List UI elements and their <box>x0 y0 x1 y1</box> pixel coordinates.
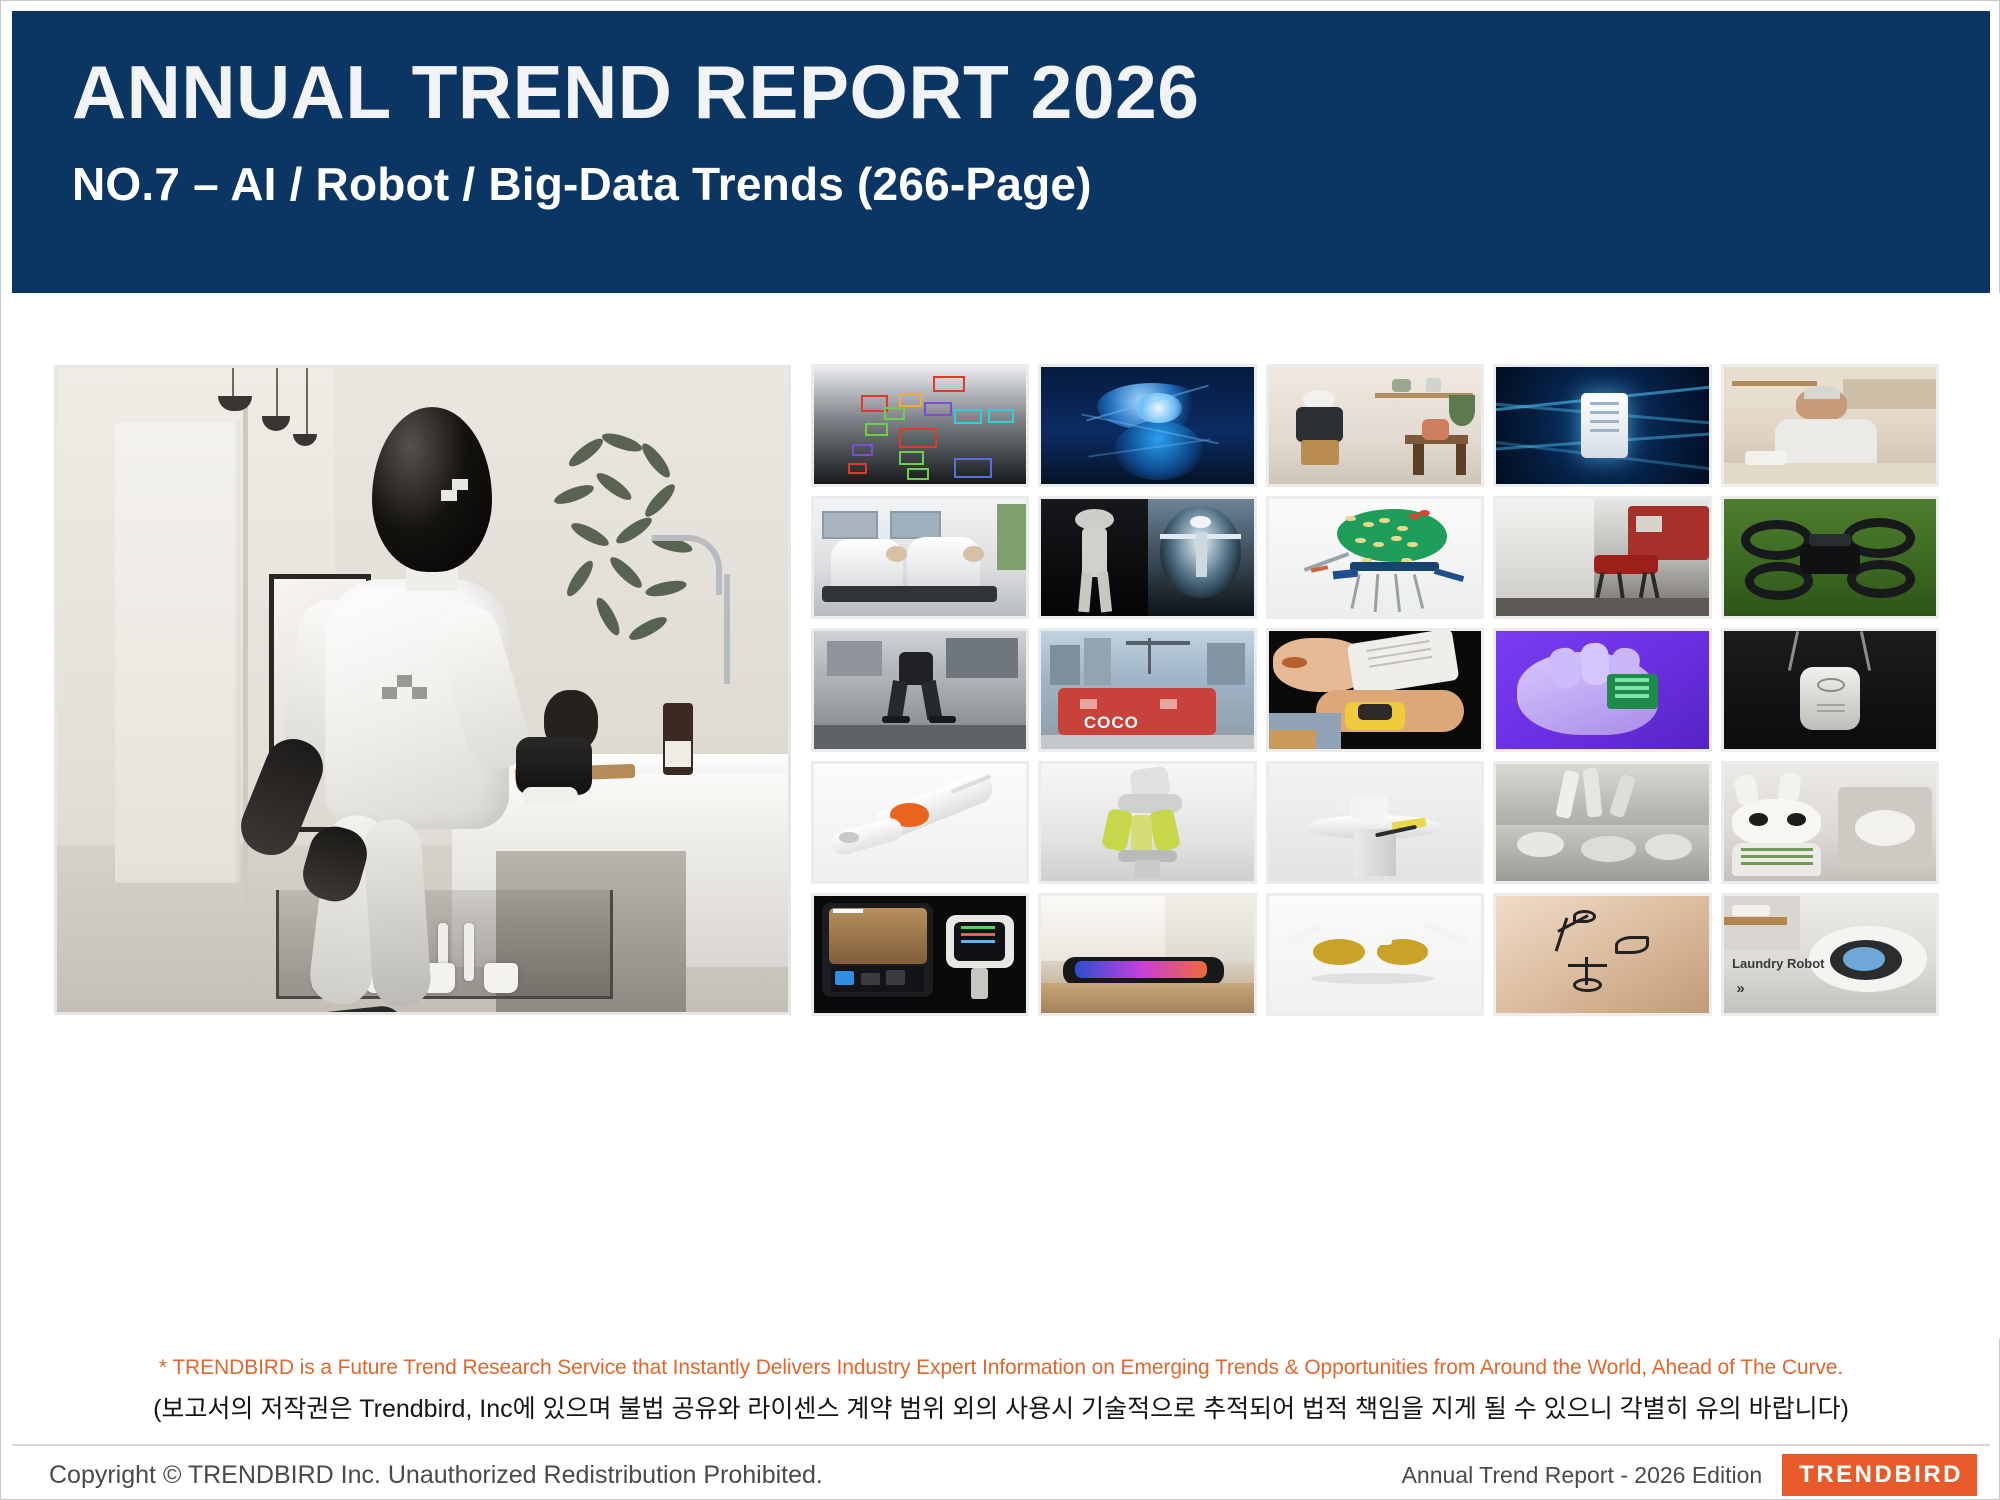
trendbird-logo: TRENDBIRD <box>1782 1454 1977 1496</box>
robot-head <box>372 407 492 572</box>
hero-scene <box>57 368 788 1012</box>
robot-right-hand <box>516 737 592 795</box>
thumbnail-green-flexible-circuit-sensor[interactable] <box>1266 496 1484 619</box>
disclaimer-block: * TRENDBIRD is a Future Trend Research S… <box>1 1356 2000 1425</box>
thumbnail-digital-human-avatar-duo[interactable] <box>1038 496 1256 619</box>
thumbnail-fitness-app-phone-and-watch[interactable] <box>811 893 1029 1016</box>
pendant-lamp-wire-1 <box>232 368 234 396</box>
robot-leg-b <box>362 817 433 1009</box>
humanoid-robot <box>211 407 635 1012</box>
footer-right-group: Annual Trend Report - 2026 Edition TREND… <box>1402 1454 1977 1496</box>
page-header: ANNUAL TREND REPORT 2026 NO.7 – AI / Rob… <box>12 11 1990 293</box>
thumbnail-firefighting-quadruped-robot[interactable] <box>1493 496 1711 619</box>
page-subtitle: NO.7 – AI / Robot / Big-Data Trends (266… <box>72 157 1990 211</box>
robot-chest-logo <box>397 675 412 687</box>
page-footer: Copyright © TRENDBIRD Inc. Unauthorized … <box>1 1449 2000 1500</box>
thumbnail-robotic-arm-gripper-prototype[interactable] <box>1038 761 1256 884</box>
faucet-icon <box>652 535 722 595</box>
thumbnail-ar-smart-glasses-white[interactable] <box>1266 893 1484 1016</box>
thumbnail-autonomous-pod-seats-interior[interactable] <box>811 496 1029 619</box>
hero-image-humanoid-robot-kitchen <box>54 365 791 1015</box>
chevron-double-right-icon: » <box>1736 980 1744 997</box>
faucet-stem <box>724 574 730 684</box>
thumbnail-white-rabbit-companion-robot[interactable] <box>1721 761 1939 884</box>
thumbnail-ai-server-blue-waveform[interactable] <box>1493 364 1711 487</box>
report-cover-page: ANNUAL TREND REPORT 2026 NO.7 – AI / Rob… <box>0 0 2000 1500</box>
thumbnail-man-blood-pressure-monitor-kitchen[interactable] <box>1721 364 1939 487</box>
copyright-text: Copyright © TRENDBIRD Inc. Unauthorized … <box>49 1461 823 1490</box>
laundry-robot-label: Laundry Robot <box>1732 957 1824 972</box>
thumbnail-bipedal-warehouse-robot[interactable] <box>811 628 1029 751</box>
disclaimer-korean: (보고서의 저작권은 Trendbird, Inc에 있으며 불법 공유와 라이… <box>1 1389 2000 1425</box>
thumbnail-robot-arm-dishwashing-sink[interactable] <box>1493 761 1711 884</box>
thumbnail-hand-holding-chip-purple[interactable] <box>1493 628 1711 751</box>
thumbnail-blue-ai-generated-portrait[interactable] <box>1038 364 1256 487</box>
thumbnail-smart-speaker-on-desk[interactable] <box>1038 893 1256 1016</box>
soap-bottle <box>663 703 693 775</box>
thumbnail-home-humanoid-robot-with-woman[interactable] <box>1266 364 1484 487</box>
thumbnail-gallery: COCO <box>811 364 1939 1016</box>
thumbnail-wearable-ai-pendant-device[interactable] <box>1721 628 1939 751</box>
edition-text: Annual Trend Report - 2026 Edition <box>1402 1462 1763 1489</box>
robot-legs <box>312 815 462 1015</box>
thumbnail-delivery-drone-on-grass[interactable] <box>1721 496 1939 619</box>
coco-robot-label: COCO <box>1084 713 1139 733</box>
thumbnail-smartphone-and-smartwatch-health[interactable] <box>1266 628 1484 751</box>
thumbnail-object-detection-bounding-boxes[interactable] <box>811 364 1029 487</box>
content-area: COCO <box>1 293 2000 1339</box>
footer-divider <box>12 1444 1990 1446</box>
thumbnail-coco-sidewalk-delivery-robot[interactable]: COCO <box>1038 628 1256 751</box>
disclaimer-english: * TRENDBIRD is a Future Trend Research S… <box>1 1356 2000 1380</box>
thumbnail-service-robot-tray-table[interactable] <box>1266 761 1484 884</box>
page-title: ANNUAL TREND REPORT 2026 <box>72 53 1990 132</box>
thumbnail-laundry-folding-robot[interactable]: Laundry Robot » <box>1721 893 1939 1016</box>
thumbnail-forearm-electronic-tattoo[interactable] <box>1493 893 1711 1016</box>
thumbnail-handheld-medical-scanner-device[interactable] <box>811 761 1029 884</box>
